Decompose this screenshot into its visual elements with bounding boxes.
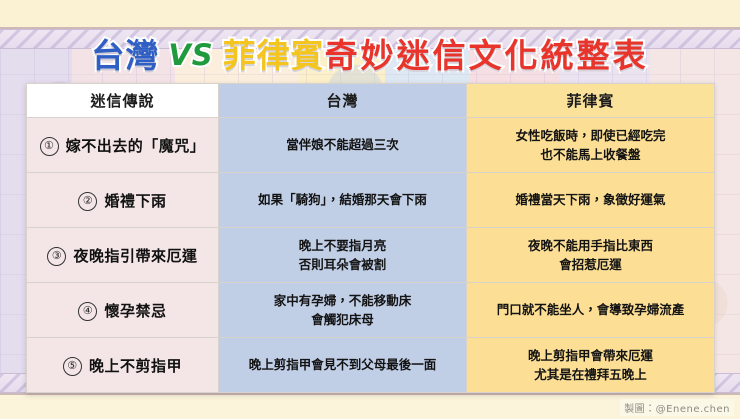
column-header-philippines: 菲律賓 xyxy=(467,84,715,118)
table-row: ②婚禮下雨 如果「騎狗」，結婚那天會下雨 婚禮當天下雨，象徵好運氣 xyxy=(27,173,715,228)
taiwan-line-2: 否則耳朵會被割 xyxy=(225,255,460,274)
cell-taiwan: 家中有孕婦，不能移動床 會觸犯床母 xyxy=(219,283,467,338)
column-header-taiwan: 台灣 xyxy=(219,84,467,118)
cell-philippines: 婚禮當天下雨，象徵好運氣 xyxy=(467,173,715,228)
topic-label: 嫁不出去的「魔咒」 xyxy=(66,137,206,155)
table-row: ③夜晚指引帶來厄運 晚上不要指月亮 否則耳朵會被割 夜晚不能用手指比東西 會招惹… xyxy=(27,228,715,283)
taiwan-line-1: 如果「騎狗」，結婚那天會下雨 xyxy=(225,190,460,209)
cell-taiwan: 如果「騎狗」，結婚那天會下雨 xyxy=(219,173,467,228)
cell-taiwan: 晚上不要指月亮 否則耳朵會被割 xyxy=(219,228,467,283)
topic-label: 懷孕禁忌 xyxy=(104,302,166,320)
philippines-line-1: 女性吃飯時，即使已經吃完 xyxy=(473,126,708,145)
infographic-canvas: TAIWAN TAIWAN PHILIPPINES PHILIPPINES 台灣… xyxy=(0,0,740,419)
cell-philippines: 女性吃飯時，即使已經吃完 也不能馬上收餐盤 xyxy=(467,118,715,173)
taiwan-line-1: 家中有孕婦，不能移動床 xyxy=(225,291,460,310)
topic-label: 夜晚指引帶來厄運 xyxy=(73,247,197,265)
cell-taiwan: 晚上剪指甲會見不到父母最後一面 xyxy=(219,338,467,393)
table-header-row: 迷信傳說 台灣 菲律賓 xyxy=(27,84,715,118)
topic-label: 晚上不剪指甲 xyxy=(89,357,182,375)
cell-philippines: 晚上剪指甲會帶來厄運 尤其是在禮拜五晚上 xyxy=(467,338,715,393)
title-vs: VS xyxy=(168,41,213,70)
cell-philippines: 夜晚不能用手指比東西 會招惹厄運 xyxy=(467,228,715,283)
page-title: 台灣 VS 菲律賓 奇妙迷信文化統整表 xyxy=(0,32,740,78)
cell-topic: ③夜晚指引帶來厄運 xyxy=(27,228,219,283)
taiwan-line-1: 當伴娘不能超過三次 xyxy=(225,135,460,154)
title-taiwan: 台灣 xyxy=(91,39,159,72)
table-row: ⑤晚上不剪指甲 晚上剪指甲會見不到父母最後一面 晚上剪指甲會帶來厄運 尤其是在禮… xyxy=(27,338,715,393)
philippines-line-1: 門口就不能坐人，會導致孕婦流產 xyxy=(473,300,708,319)
table-row: ④懷孕禁忌 家中有孕婦，不能移動床 會觸犯床母 門口就不能坐人，會導致孕婦流產 xyxy=(27,283,715,338)
comparison-table-wrapper: 迷信傳說 台灣 菲律賓 ①嫁不出去的「魔咒」 當伴娘不能超過三次 女性吃飯時，即… xyxy=(26,83,714,393)
top-band xyxy=(0,0,740,29)
topic-label: 婚禮下雨 xyxy=(104,192,166,210)
taiwan-line-1: 晚上不要指月亮 xyxy=(225,236,460,255)
philippines-line-2: 會招惹厄運 xyxy=(473,255,708,274)
philippines-line-2: 尤其是在禮拜五晚上 xyxy=(473,365,708,384)
row-number: ① xyxy=(40,137,59,156)
title-philippines: 菲律賓 xyxy=(223,39,325,72)
philippines-line-1: 婚禮當天下雨，象徵好運氣 xyxy=(473,190,708,209)
philippines-line-2: 也不能馬上收餐盤 xyxy=(473,145,708,164)
philippines-line-1: 夜晚不能用手指比東西 xyxy=(473,236,708,255)
row-number: ③ xyxy=(47,247,66,266)
cell-topic: ④懷孕禁忌 xyxy=(27,283,219,338)
cell-taiwan: 當伴娘不能超過三次 xyxy=(219,118,467,173)
cell-philippines: 門口就不能坐人，會導致孕婦流產 xyxy=(467,283,715,338)
cell-topic: ①嫁不出去的「魔咒」 xyxy=(27,118,219,173)
column-header-topic: 迷信傳說 xyxy=(27,84,219,118)
table-row: ①嫁不出去的「魔咒」 當伴娘不能超過三次 女性吃飯時，即使已經吃完 也不能馬上收… xyxy=(27,118,715,173)
credit-watermark: 製圖：@Enene.chen xyxy=(620,399,734,416)
comparison-table: 迷信傳說 台灣 菲律賓 ①嫁不出去的「魔咒」 當伴娘不能超過三次 女性吃飯時，即… xyxy=(26,83,715,393)
taiwan-line-2: 會觸犯床母 xyxy=(225,310,460,329)
row-number: ④ xyxy=(78,302,97,321)
taiwan-line-1: 晚上剪指甲會見不到父母最後一面 xyxy=(225,355,460,374)
philippines-line-1: 晚上剪指甲會帶來厄運 xyxy=(473,346,708,365)
title-subject: 奇妙迷信文化統整表 xyxy=(325,39,649,72)
row-number: ② xyxy=(78,192,97,211)
row-number: ⑤ xyxy=(63,357,82,376)
cell-topic: ②婚禮下雨 xyxy=(27,173,219,228)
cell-topic: ⑤晚上不剪指甲 xyxy=(27,338,219,393)
